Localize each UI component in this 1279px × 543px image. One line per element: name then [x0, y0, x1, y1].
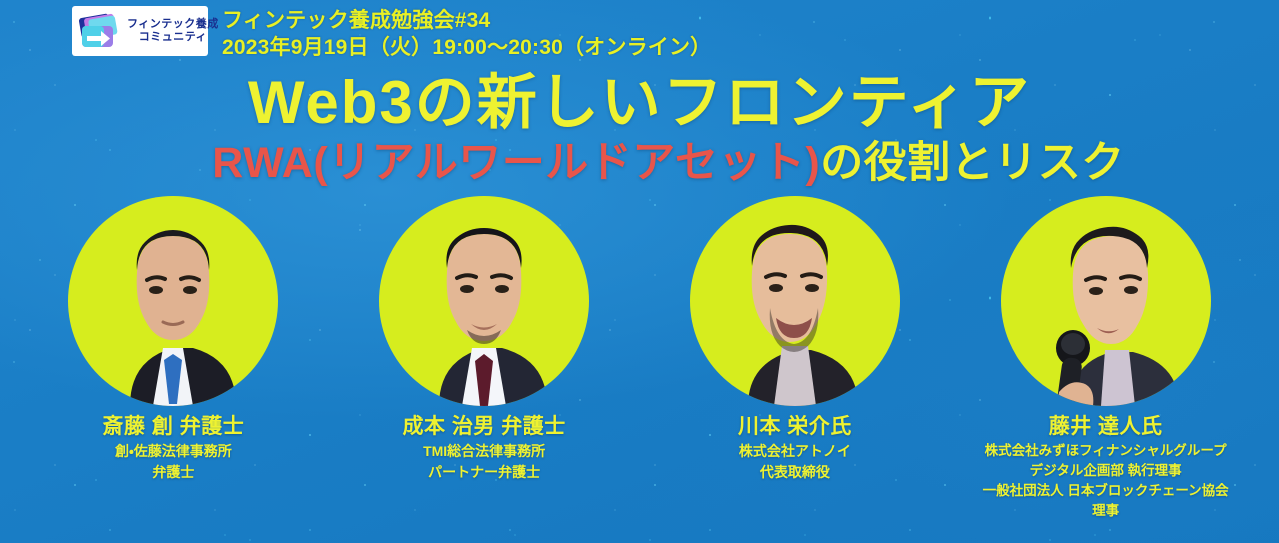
affiliation-line: 一般社団法人 日本ブロックチェーン協会 [983, 483, 1229, 500]
header-text-block: フィンテック養成勉強会#34 2023年9月19日（火）19:00〜20:30（… [222, 6, 711, 62]
speaker-photo [1001, 196, 1211, 406]
speaker-affiliation: 株式会社みずほフィナンシャルグループ デジタル企画部 執行理事 一般社団法人 日… [983, 443, 1229, 520]
affiliation-line: 株式会社アトノイ [739, 443, 851, 461]
speaker-name: 成本 治男 弁護士 [403, 414, 566, 439]
speaker-card: 斎藤 創 弁護士 創・佐藤法律事務所 弁護士 [18, 196, 329, 481]
event-banner: フィンテック養成 コミュニティ フィンテック養成勉強会#34 2023年9月19… [0, 0, 1279, 543]
affiliation-line: 創・佐藤法律事務所 [115, 443, 232, 461]
event-series-title: フィンテック養成勉強会#34 [222, 8, 711, 35]
sub-title: RWA(リアルワールドアセット)の役割とリスク [0, 141, 1279, 186]
logo-wordmark: フィンテック養成 コミュニティ [127, 18, 219, 43]
wallet-arrow-icon [77, 11, 123, 51]
affiliation-line: パートナー弁護士 [428, 464, 540, 482]
speaker-affiliation: 創・佐藤法律事務所 弁護士 [115, 443, 232, 481]
logo-line-2: コミュニティ [139, 31, 207, 44]
subtitle-highlight: RWA(リアルワールドアセット) [212, 139, 820, 187]
speaker-list: 斎藤 創 弁護士 創・佐藤法律事務所 弁護士 [0, 196, 1279, 520]
logo-line-1: フィンテック養成 [127, 18, 219, 31]
speaker-photo [379, 196, 589, 406]
speaker-affiliation: TMI総合法律事務所 パートナー弁護士 [423, 443, 545, 481]
subtitle-rest: の役割とリスク [820, 139, 1125, 187]
community-logo: フィンテック養成 コミュニティ [72, 6, 208, 56]
speaker-name: 藤井 達人氏 [1049, 414, 1163, 439]
main-title: Web3の新しいフロンティア [0, 72, 1279, 133]
banner-header: フィンテック養成 コミュニティ フィンテック養成勉強会#34 2023年9月19… [72, 6, 711, 62]
speaker-photo [68, 196, 278, 406]
speaker-photo [690, 196, 900, 406]
speaker-affiliation: 株式会社アトノイ 代表取締役 [739, 443, 851, 481]
speaker-card: 成本 治男 弁護士 TMI総合法律事務所 パートナー弁護士 [329, 196, 640, 481]
speaker-card: 藤井 達人氏 株式会社みずほフィナンシャルグループ デジタル企画部 執行理事 一… [950, 196, 1261, 520]
affiliation-line: デジタル企画部 執行理事 [1030, 463, 1182, 480]
event-datetime: 2023年9月19日（火）19:00〜20:30（オンライン） [222, 35, 711, 62]
affiliation-line: TMI総合法律事務所 [423, 443, 545, 461]
affiliation-line: 代表取締役 [760, 464, 830, 482]
speaker-card: 川本 栄介氏 株式会社アトノイ 代表取締役 [640, 196, 951, 481]
affiliation-line: 弁護士 [152, 464, 194, 482]
speaker-name: 斎藤 創 弁護士 [103, 414, 245, 439]
affiliation-line: 株式会社みずほフィナンシャルグループ [985, 443, 1227, 460]
affiliation-line: 理事 [1092, 503, 1119, 520]
speaker-name: 川本 栄介氏 [738, 414, 852, 439]
